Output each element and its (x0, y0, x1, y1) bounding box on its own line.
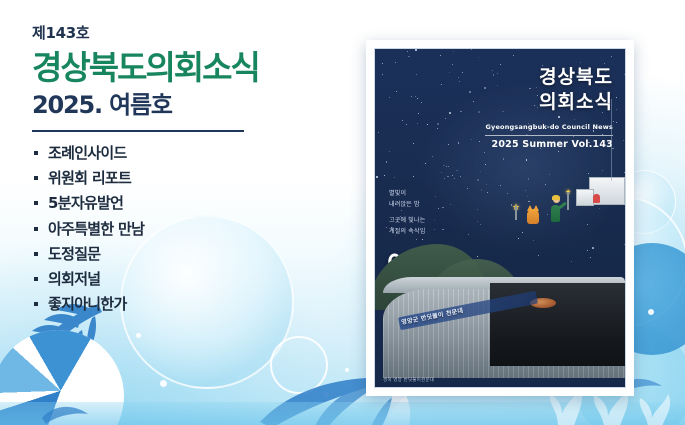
table-of-contents: 조례인사이드 위원회 리포트 5분자유발언 아주특별한 만남 도정질문 의회저널… (32, 145, 342, 314)
list-item-label: 위원회 리포트 (48, 169, 131, 187)
cover-issue-line: 2025 Summer Vol.143 (485, 138, 613, 152)
list-item[interactable]: 5분자유발언 (32, 195, 342, 212)
bullet-icon (34, 201, 38, 205)
rooftop-structure-icon (576, 189, 594, 206)
pole-icon (515, 206, 517, 220)
bubble-icon (324, 392, 329, 397)
list-item-label: 아주특별한 만남 (48, 220, 144, 238)
rose-icon (593, 194, 600, 203)
cover-image: 경상북도 의회소식 Gyeongsangbuk-do Council News … (374, 48, 626, 388)
bullet-icon (34, 176, 38, 180)
page-subtitle: 2025. 여름호 (32, 91, 342, 120)
cover-english-title: Gyeongsangbuk-do Council News (485, 123, 613, 133)
list-item-label: 조례인사이드 (48, 144, 127, 162)
cover-english-block: Gyeongsangbuk-do Council News 2025 Summe… (485, 123, 613, 152)
cover-title-line2: 의회소식 (539, 90, 613, 115)
magazine-cover-thumbnail[interactable]: 경상북도 의회소식 Gyeongsangbuk-do Council News … (366, 40, 634, 396)
divider (32, 130, 244, 132)
list-item-label: 좋지아니한가 (48, 295, 127, 313)
fox-icon (527, 209, 539, 224)
bullet-icon (34, 252, 38, 256)
banner-text-block: 제143호 경상북도의회소식 2025. 여름호 조례인사이드 위원회 리포트 … (32, 24, 342, 322)
poem-line-1: 별빛이 (389, 189, 425, 200)
cover-title-line1: 경상북도 (539, 65, 613, 90)
bubble-icon (136, 333, 141, 338)
summer-newsletter-banner: 제143호 경상북도의회소식 2025. 여름호 조례인사이드 위원회 리포트 … (0, 0, 685, 425)
bullet-icon (34, 227, 38, 231)
list-item[interactable]: 아주특별한 만남 (32, 221, 342, 238)
list-item-label: 의회저널 (48, 270, 100, 288)
cover-poem: 별빛이 내려앉은 밤 그곳에 빛나는 계절의 속삭임 (389, 189, 425, 237)
cover-photo: 영양군 반딧불이 천문대 경북 영양 반딧불이천문대 (375, 238, 625, 387)
bullet-icon (34, 302, 38, 306)
bullet-icon (34, 151, 38, 155)
photo-caption: 경북 영양 반딧불이천문대 (383, 377, 434, 383)
bubble-icon (345, 368, 349, 372)
list-item[interactable]: 좋지아니한가 (32, 296, 342, 313)
poem-line-4: 계절의 속삭임 (389, 227, 425, 238)
list-item[interactable]: 도정질문 (32, 246, 342, 263)
antenna-icon (611, 99, 612, 181)
cover-title: 경상북도 의회소식 (539, 65, 613, 114)
list-item-label: 5분자유발언 (48, 194, 123, 212)
bubble-icon (648, 309, 654, 315)
pole-icon (567, 192, 569, 210)
beach-ball-icon (0, 330, 124, 425)
list-item[interactable]: 의회저널 (32, 271, 342, 288)
list-item-label: 도정질문 (48, 245, 100, 263)
poem-line-3: 그곳에 빛나는 (389, 216, 425, 227)
list-item[interactable]: 조례인사이드 (32, 145, 342, 162)
divider (485, 135, 613, 136)
issue-number: 제143호 (32, 24, 342, 42)
poem-line-2: 내려앉은 밤 (389, 200, 425, 211)
bullet-icon (34, 277, 38, 281)
list-item[interactable]: 위원회 리포트 (32, 170, 342, 187)
page-title: 경상북도의회소식 (32, 50, 342, 87)
bubble-icon (270, 336, 328, 394)
bubble-icon (160, 380, 167, 387)
